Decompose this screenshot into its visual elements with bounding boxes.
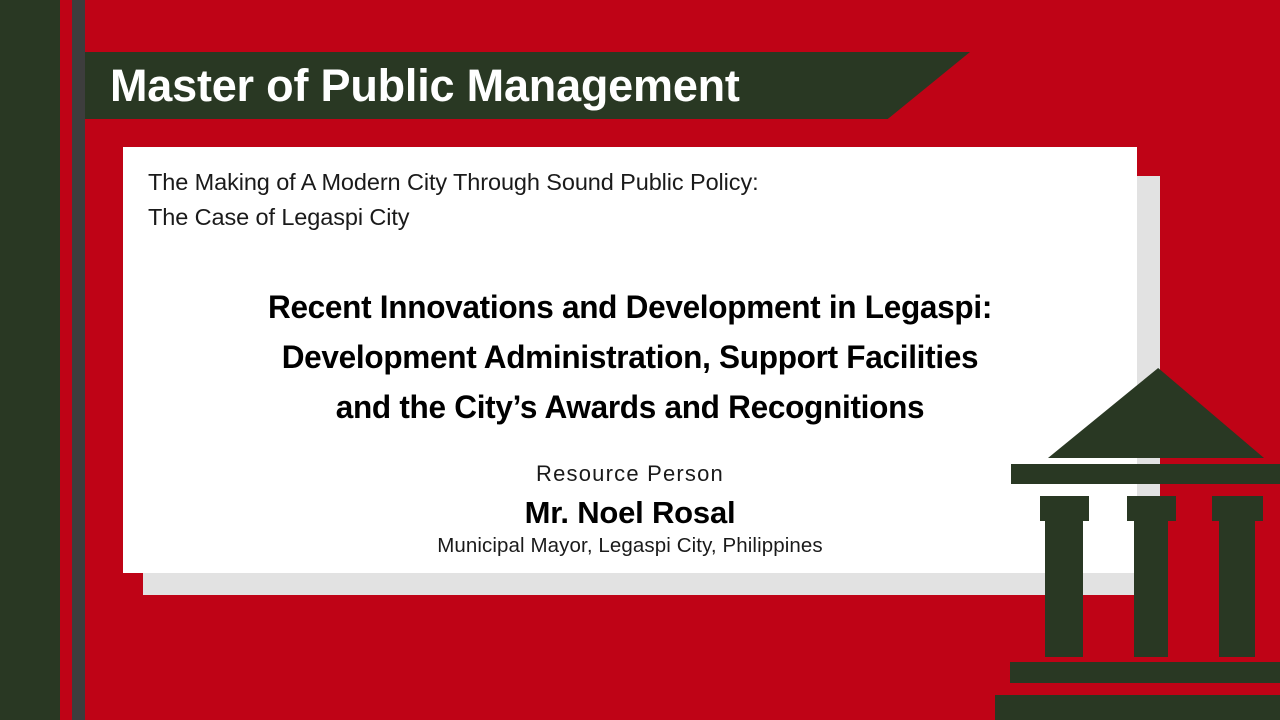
resource-person-name: Mr. Noel Rosal xyxy=(140,495,1120,531)
title-line-2: Development Administration, Support Faci… xyxy=(155,332,1106,382)
building-column-capital-icon xyxy=(1212,496,1263,521)
building-column-icon xyxy=(1045,521,1083,657)
building-column-icon xyxy=(1219,521,1255,657)
program-banner-title: Master of Public Management xyxy=(110,56,940,116)
title-line-3: and the City’s Awards and Recognitions xyxy=(155,382,1106,432)
building-column-icon xyxy=(1134,521,1168,657)
left-accent-bar-green xyxy=(0,0,60,720)
slide-main-title: Recent Innovations and Development in Le… xyxy=(155,282,1106,432)
resource-person-role: Municipal Mayor, Legaspi City, Philippin… xyxy=(140,534,1120,558)
resource-person-label: Resource Person xyxy=(140,461,1120,487)
building-base-upper-icon xyxy=(1010,662,1280,683)
building-architrave-icon xyxy=(1011,464,1280,484)
left-accent-bar-red xyxy=(60,0,72,720)
building-column-capital-icon xyxy=(1040,496,1089,521)
building-column-capital-icon xyxy=(1127,496,1176,521)
subtitle-line-2: The Case of Legaspi City xyxy=(148,200,1008,235)
left-accent-bar-charcoal xyxy=(72,0,85,720)
subtitle-line-1: The Making of A Modern City Through Soun… xyxy=(148,165,1008,200)
title-line-1: Recent Innovations and Development in Le… xyxy=(155,282,1106,332)
presentation-slide: Master of Public Management The Making o… xyxy=(0,0,1280,720)
building-base-lower-icon xyxy=(995,695,1280,720)
slide-subtitle: The Making of A Modern City Through Soun… xyxy=(148,165,1008,235)
